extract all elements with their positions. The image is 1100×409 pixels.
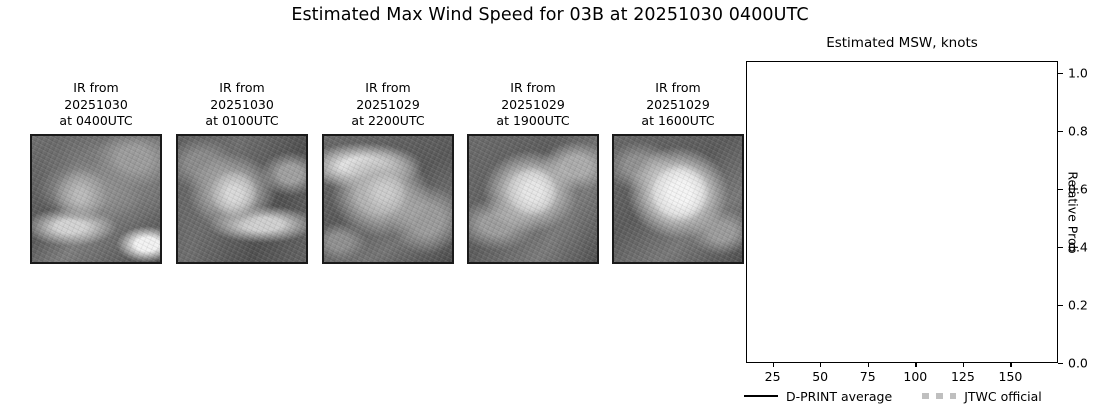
panel-caption: IR from 20251030 at 0100UTC xyxy=(174,80,310,130)
panel-caption: IR from 20251029 at 1900UTC xyxy=(465,80,601,130)
figure-canvas: Estimated Max Wind Speed for 03B at 2025… xyxy=(0,0,1100,409)
y-tick-mark xyxy=(1058,363,1063,364)
histogram-chart: 255075100125150 0.00.20.40.60.81.0 xyxy=(746,61,1058,363)
axes-frame xyxy=(746,61,1058,363)
x-tick-mark xyxy=(1010,363,1011,367)
panel-caption: IR from 20251030 at 0400UTC xyxy=(28,80,164,130)
ir-texture-overlay xyxy=(178,136,306,262)
x-tick-mark xyxy=(820,363,821,367)
legend-item-dprint[interactable]: D-PRINT average xyxy=(744,389,892,404)
satellite-panel[interactable]: IR from 20251029 at 1900UTC xyxy=(465,80,601,264)
panel-caption: IR from 20251029 at 2200UTC xyxy=(320,80,456,130)
x-tick-mark xyxy=(963,363,964,367)
legend-label-dprint: D-PRINT average xyxy=(786,389,892,404)
ir-texture-overlay xyxy=(324,136,452,262)
dashed-line-icon xyxy=(922,393,956,398)
chart-legend: D-PRINT average JTWC official xyxy=(744,386,1084,406)
legend-label-jtwc: JTWC official xyxy=(964,389,1042,404)
satellite-panel[interactable]: IR from 20251029 at 1600UTC xyxy=(610,80,746,264)
ir-texture-overlay xyxy=(469,136,597,262)
y-axis-label-text: Relative Prob xyxy=(1066,171,1081,253)
chart-title: Estimated MSW, knots xyxy=(746,35,1058,51)
x-tick-label: 75 xyxy=(860,369,876,384)
y-axis-label: Relative Prob xyxy=(1064,61,1082,363)
ir-thumbnail[interactable] xyxy=(30,134,162,264)
solid-line-icon xyxy=(744,395,778,397)
x-tick-mark xyxy=(773,363,774,367)
x-tick-label: 25 xyxy=(765,369,781,384)
y-tick-mark xyxy=(1058,305,1063,306)
ir-texture-overlay xyxy=(614,136,742,262)
x-tick-label: 125 xyxy=(951,369,975,384)
ir-thumbnail[interactable] xyxy=(322,134,454,264)
x-tick-mark xyxy=(915,363,916,367)
y-tick-mark xyxy=(1058,73,1063,74)
x-tick-label: 150 xyxy=(999,369,1023,384)
panel-caption: IR from 20251029 at 1600UTC xyxy=(610,80,746,130)
y-tick-mark xyxy=(1058,131,1063,132)
y-tick-mark xyxy=(1058,189,1063,190)
satellite-panel[interactable]: IR from 20251030 at 0100UTC xyxy=(174,80,310,264)
ir-thumbnail[interactable] xyxy=(612,134,744,264)
x-tick-label: 100 xyxy=(903,369,927,384)
ir-thumbnail[interactable] xyxy=(467,134,599,264)
ir-thumbnail[interactable] xyxy=(176,134,308,264)
satellite-panel[interactable]: IR from 20251030 at 0400UTC xyxy=(28,80,164,264)
y-tick-mark xyxy=(1058,247,1063,248)
legend-item-jtwc[interactable]: JTWC official xyxy=(922,389,1042,404)
page-title: Estimated Max Wind Speed for 03B at 2025… xyxy=(0,5,1100,25)
ir-texture-overlay xyxy=(32,136,160,262)
satellite-panel[interactable]: IR from 20251029 at 2200UTC xyxy=(320,80,456,264)
x-tick-mark xyxy=(868,363,869,367)
x-tick-label: 50 xyxy=(812,369,828,384)
